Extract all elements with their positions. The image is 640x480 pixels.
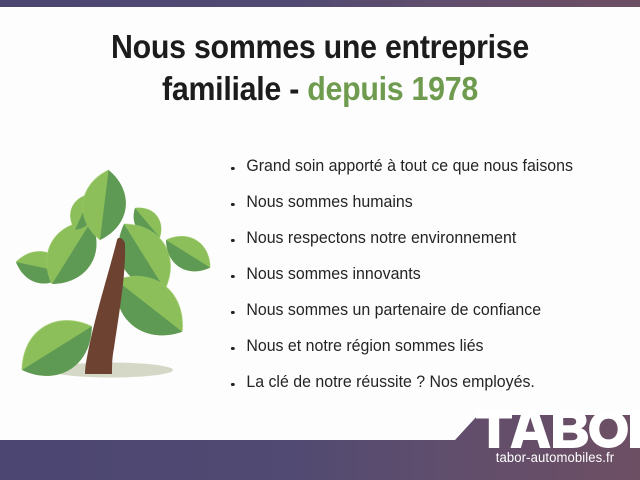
list-item: La clé de notre réussite ? Nos employés.	[228, 366, 616, 402]
list-item-label: Nous et notre région sommes liés	[246, 337, 483, 355]
brand-wordmark-tabor	[476, 410, 640, 448]
list-item-label: Grand soin apporté à tout ce que nous fa…	[246, 157, 573, 175]
bullet-dot-icon	[231, 275, 234, 279]
list-item: Nous sommes innovants	[228, 258, 616, 294]
bullet-dot-icon	[231, 167, 234, 171]
bullet-dot-icon	[231, 203, 234, 207]
list-item: Nous sommes humains	[228, 186, 616, 222]
list-item-label: La clé de notre réussite ? Nos employés.	[246, 373, 535, 391]
headline-line-2: familiale - depuis 1978	[26, 68, 615, 110]
list-item-label: Nous respectons notre environnement	[246, 229, 516, 247]
page-title: Nous sommes une entreprise familiale - d…	[26, 26, 615, 110]
list-item: Nous et notre région sommes liés	[228, 330, 616, 366]
list-item: Grand soin apporté à tout ce que nous fa…	[228, 150, 616, 186]
tree-svg	[8, 152, 218, 388]
list-item-label: Nous sommes humains	[246, 193, 412, 211]
headline-line-2-plain: familiale -	[162, 70, 307, 107]
headline-line-1: Nous sommes une entreprise	[111, 28, 529, 65]
bullet-dot-icon	[231, 383, 234, 387]
slide-canvas: Nous sommes une entreprise familiale - d…	[0, 0, 640, 480]
bullet-dot-icon	[231, 311, 234, 315]
brand-logo[interactable]: tabor-automobiles.fr	[476, 410, 640, 472]
brand-url[interactable]: tabor-automobiles.fr	[478, 450, 631, 465]
bullet-dot-icon	[231, 347, 234, 351]
list-item-label: Nous sommes innovants	[246, 265, 420, 283]
headline-accent: depuis 1978	[307, 70, 478, 107]
list-item-label: Nous sommes un partenaire de confiance	[246, 301, 541, 319]
bullet-dot-icon	[231, 239, 234, 243]
list-item: Nous sommes un partenaire de confiance	[228, 294, 616, 330]
list-item: Nous respectons notre environnement	[228, 222, 616, 258]
tree-illustration	[8, 152, 218, 388]
top-accent-bar	[0, 0, 640, 7]
benefits-list: Grand soin apporté à tout ce que nous fa…	[228, 150, 630, 402]
